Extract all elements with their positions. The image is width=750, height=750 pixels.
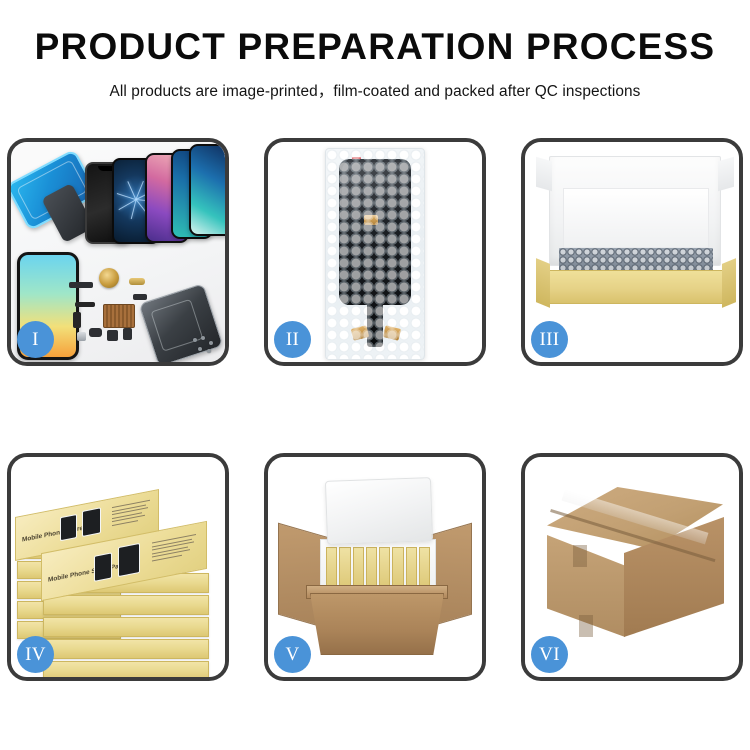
vibration-motor-icon	[89, 328, 102, 337]
step-badge-3: III	[531, 321, 568, 358]
gradient-phone-icon	[189, 144, 225, 236]
sealed-shipping-carton-image: VI	[525, 457, 739, 677]
step-panel-1[interactable]: I	[7, 138, 229, 366]
bubble-bag-icon	[325, 148, 425, 360]
sim-tray-icon	[77, 332, 86, 341]
gold-box-base-icon	[547, 270, 725, 304]
step-panel-5[interactable]: V	[264, 453, 486, 681]
earpiece-mesh-icon	[69, 282, 93, 288]
ic-chip-icon	[103, 304, 135, 328]
flex-cable-vertical-icon	[73, 312, 81, 328]
carton-tab-bottom-icon	[579, 615, 593, 637]
page-subtitle: All products are image-printed，film-coat…	[0, 79, 750, 101]
carton-front-icon	[310, 593, 444, 655]
step-panel-2[interactable]: II	[264, 138, 486, 366]
carton-tab-top-icon	[573, 545, 587, 567]
step-badge-4: IV	[17, 636, 54, 673]
battery-connector-icon	[123, 328, 132, 340]
phone-parts-collage-image: I	[11, 142, 225, 362]
page-title: PRODUCT PREPARATION PROCESS	[0, 28, 750, 65]
carton-with-foam-box-image: V	[268, 457, 482, 677]
flex-cable-icon	[75, 302, 95, 307]
screws-icon	[193, 336, 219, 354]
box-screenshot-a2	[94, 552, 112, 581]
bubble-wrapped-screen-image: II	[268, 142, 482, 362]
foam-lined-gold-box-image: III	[525, 142, 739, 362]
box-label-2: Mobile Phone Spare Parts	[48, 561, 127, 583]
step-panel-3[interactable]: III	[521, 138, 743, 366]
box-spec-lines-1	[112, 499, 152, 528]
step-panel-6[interactable]: VI	[521, 453, 743, 681]
bubble-texture-icon	[326, 149, 424, 359]
box-screenshot-b2	[118, 543, 140, 577]
foam-sheet-icon	[563, 188, 709, 248]
step-badge-5: V	[274, 636, 311, 673]
box-screenshot-b1	[82, 507, 101, 537]
box-spec-lines-2	[152, 533, 200, 564]
small-flex-icon	[133, 294, 147, 300]
step-panel-4[interactable]: Mobile Phone Spare Parts Mobile Phone Sp…	[7, 453, 229, 681]
step-badge-6: VI	[531, 636, 568, 673]
speaker-coil-icon	[99, 268, 119, 288]
gold-boxes-inside-icon	[326, 547, 430, 589]
camera-module-icon	[107, 330, 118, 341]
poster-header: PRODUCT PREPARATION PROCESS All products…	[0, 0, 750, 101]
step-badge-2: II	[274, 321, 311, 358]
box-screenshot-a1	[60, 514, 77, 541]
foam-lid-icon	[325, 477, 433, 545]
poster-root: PRODUCT PREPARATION PROCESS All products…	[0, 0, 750, 750]
process-steps-grid: I II	[7, 138, 743, 683]
step-badge-1: I	[17, 321, 54, 358]
gold-contact-icon	[129, 278, 145, 285]
stacked-gold-boxes-image: Mobile Phone Spare Parts Mobile Phone Sp…	[11, 457, 225, 677]
